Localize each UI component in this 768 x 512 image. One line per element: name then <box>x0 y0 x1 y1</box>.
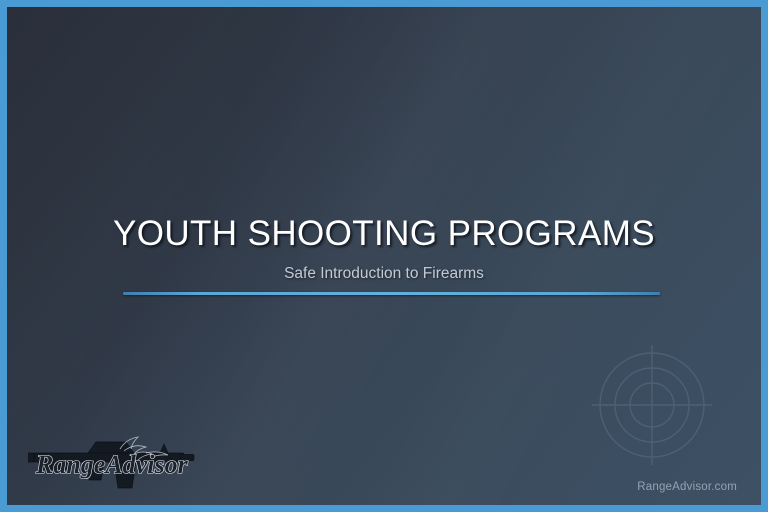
slide-canvas: YOUTH SHOOTING PROGRAMS Safe Introductio… <box>7 7 761 505</box>
rifle-silhouette-icon: RangeAdvisor <box>28 431 200 493</box>
presentation-slide: YOUTH SHOOTING PROGRAMS Safe Introductio… <box>0 0 768 512</box>
target-crosshair-icon <box>590 343 714 467</box>
target-crosshair-watermark <box>590 343 714 467</box>
footer-url: RangeAdvisor.com <box>637 481 737 493</box>
page-title: YOUTH SHOOTING PROGRAMS <box>7 212 761 256</box>
rangeadvisor-logo[interactable]: RangeAdvisor <box>28 431 200 493</box>
title-underline-divider <box>123 292 660 295</box>
logo-wordmark: RangeAdvisor <box>35 450 189 479</box>
title-block: YOUTH SHOOTING PROGRAMS Safe Introductio… <box>7 212 761 284</box>
page-subtitle: Safe Introduction to Firearms <box>7 264 761 284</box>
